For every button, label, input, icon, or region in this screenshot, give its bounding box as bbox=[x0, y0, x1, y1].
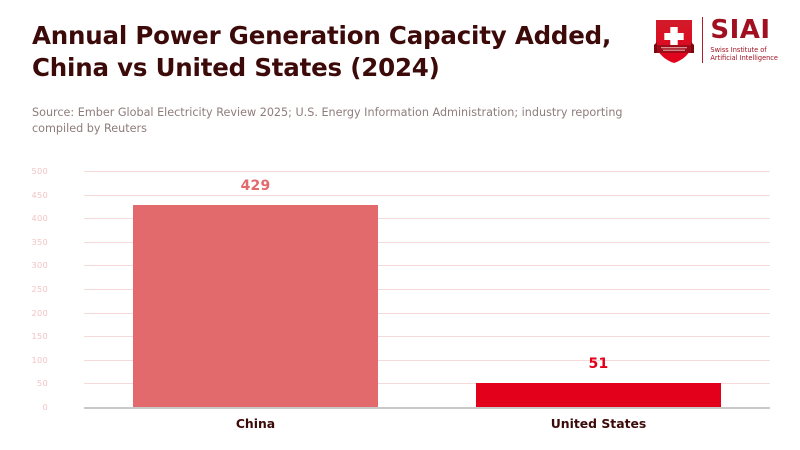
chart-source-note: Source: Ember Global Electricity Review … bbox=[32, 105, 672, 137]
page-title: Annual Power Generation Capacity Added, … bbox=[32, 20, 652, 85]
bar-value-label: 429 bbox=[133, 178, 378, 194]
y-axis-tick-label: 400 bbox=[0, 213, 48, 223]
logo-acronym: SIAI bbox=[710, 18, 778, 43]
logo-text: SIAI Swiss Institute of Artificial Intel… bbox=[710, 18, 778, 62]
bar-value-label: 51 bbox=[476, 356, 721, 372]
y-axis-tick-label: 0 bbox=[0, 402, 48, 412]
chart-header: Annual Power Generation Capacity Added, … bbox=[0, 0, 800, 150]
y-axis-tick-label: 200 bbox=[0, 308, 48, 318]
y-axis-tick-label: 350 bbox=[0, 237, 48, 247]
x-axis-category-label: China bbox=[84, 416, 427, 431]
x-axis-category-label: United States bbox=[427, 416, 770, 431]
y-axis-tick-label: 50 bbox=[0, 378, 48, 388]
bar-united-states[interactable] bbox=[476, 383, 721, 407]
plot-area: 050100150200250300350400450500429China51… bbox=[84, 171, 770, 407]
logo-divider bbox=[702, 17, 704, 63]
y-axis-tick-label: 450 bbox=[0, 190, 48, 200]
y-axis-tick-label: 300 bbox=[0, 260, 48, 270]
title-block: Annual Power Generation Capacity Added, … bbox=[32, 20, 652, 85]
logo-tagline: Swiss Institute of Artificial Intelligen… bbox=[710, 46, 778, 62]
gridline bbox=[84, 171, 770, 172]
y-axis-tick-label: 250 bbox=[0, 284, 48, 294]
swiss-shield-icon bbox=[652, 15, 696, 65]
gridline bbox=[84, 195, 770, 196]
y-axis-tick-label: 100 bbox=[0, 355, 48, 365]
siai-logo: SIAI Swiss Institute of Artificial Intel… bbox=[652, 13, 778, 67]
y-axis-tick-label: 150 bbox=[0, 331, 48, 341]
y-axis-tick-label: 500 bbox=[0, 166, 48, 176]
x-axis-line bbox=[84, 407, 770, 409]
bar-china[interactable] bbox=[133, 205, 378, 407]
bar-chart: 050100150200250300350400450500429China51… bbox=[0, 150, 800, 450]
